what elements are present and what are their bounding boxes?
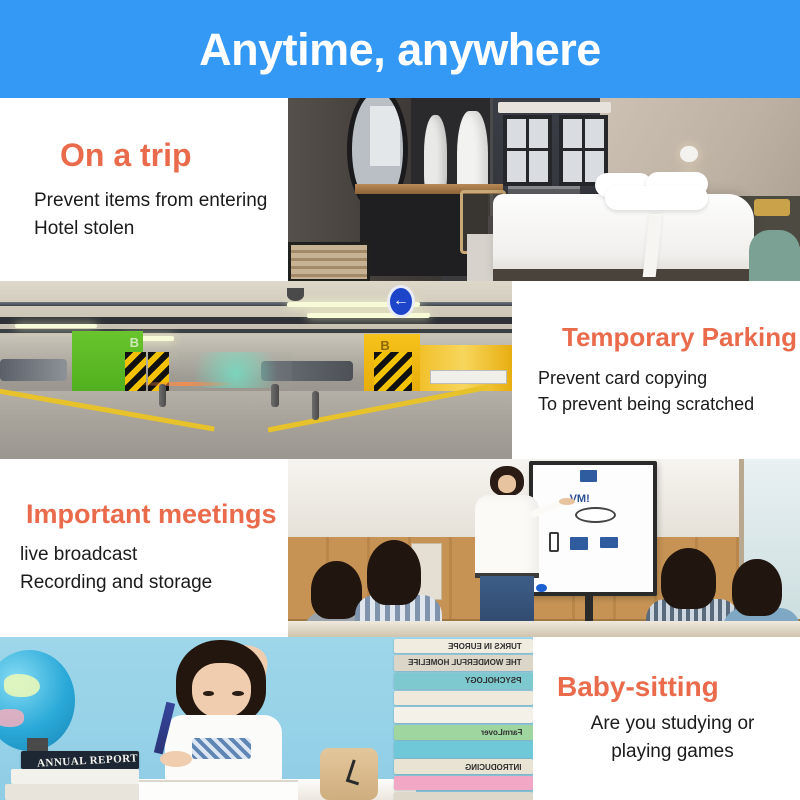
meeting-scene: VM! (288, 459, 800, 637)
security-camera-icon (287, 288, 304, 300)
presenter-body (475, 495, 539, 577)
section-text-on-a-trip: On a trip Prevent items from entering Ho… (0, 98, 288, 282)
wooden-bench (288, 242, 370, 282)
stacked-book (11, 769, 139, 784)
whiteboard-marker-dot (536, 584, 546, 592)
section-line-1: Prevent card copying (538, 365, 800, 391)
parking-scene: ← (0, 281, 512, 459)
stack-book (394, 792, 533, 800)
attendee-head (732, 559, 781, 617)
stack-book (394, 691, 533, 706)
child-eye (203, 691, 215, 696)
meeting-room-photo: VM! (288, 459, 800, 637)
window-shade (498, 102, 611, 113)
child-bowtie (192, 738, 251, 759)
wall-notice-panel (430, 370, 507, 384)
section-heading: Baby-sitting (557, 672, 719, 703)
attendee-head (661, 548, 716, 609)
table-lamp-icon (754, 199, 790, 216)
ceiling-light-icon (15, 324, 97, 329)
ceiling-pipe (0, 302, 512, 306)
section-baby-sitting: ANNUAL REPORT TURKS IN EUROPE THE WONDER… (0, 637, 800, 800)
green-side-table (749, 230, 800, 282)
section-line-2: Hotel stolen (34, 215, 288, 243)
section-line-1: Are you studying or (591, 710, 755, 738)
section-line-1: Prevent items from entering (34, 187, 288, 215)
whiteboard-diagram-phone-icon (549, 532, 559, 552)
stack-book-title: TURKS IN EUROPE (448, 642, 522, 651)
stack-book-title: PSYCHOLOGY (465, 676, 521, 685)
parked-cars (0, 359, 67, 380)
child-eye (232, 691, 244, 696)
whiteboard-diagram-computer-icon (580, 470, 597, 482)
header-banner: Anytime, anywhere (0, 0, 800, 98)
section-line-2: To prevent being scratched (538, 391, 800, 417)
study-scene: ANNUAL REPORT TURKS IN EUROPE THE WONDER… (0, 637, 533, 800)
section-line-2: playing games (611, 738, 734, 766)
light-trail (133, 382, 235, 386)
section-line-2: Recording and storage (20, 569, 288, 597)
child-studying-photo: ANNUAL REPORT TURKS IN EUROPE THE WONDER… (0, 637, 533, 800)
stack-book-title: INTRODUCING (465, 763, 521, 772)
globe-icon (0, 650, 75, 751)
section-temporary-parking: ← Temp (0, 281, 800, 459)
stack-book (394, 707, 533, 723)
page-title: Anytime, anywhere (199, 27, 601, 72)
section-on-a-trip: On a trip Prevent items from entering Ho… (0, 98, 800, 282)
section-heading: On a trip (60, 138, 288, 173)
bollard (159, 384, 166, 407)
section-heading: Temporary Parking (562, 323, 800, 352)
attendee-head (367, 540, 421, 605)
section-text-baby-sitting: Baby-sitting Are you studying or playing… (533, 637, 800, 800)
hotel-room-photo (288, 98, 800, 282)
stack-book (394, 741, 533, 757)
section-line-1: live broadcast (20, 541, 288, 569)
section-heading: Important meetings (26, 500, 288, 530)
stack-book-title: THE WONDERFUL HOMELIFE (408, 658, 522, 667)
bollard (312, 391, 319, 419)
section-text-temporary-parking: Temporary Parking Prevent card copying T… (512, 281, 800, 459)
parking-garage-photo: ← (0, 281, 512, 459)
whiteboard-diagram-computer-icon (570, 537, 588, 549)
presenter-face (498, 475, 516, 493)
section-important-meetings: Important meetings live broadcast Record… (0, 459, 800, 637)
open-notebook (139, 780, 299, 800)
meeting-attendee (355, 512, 442, 637)
hotel-window (503, 115, 552, 187)
section-text-important-meetings: Important meetings live broadcast Record… (0, 459, 288, 637)
wall-sconce-icon (680, 146, 697, 163)
bollard (271, 384, 278, 407)
pillow (605, 186, 707, 210)
stack-book-title: FarmLover (481, 728, 522, 737)
conference-table (288, 621, 800, 637)
stacked-book (5, 784, 138, 800)
hazard-stripe (391, 352, 411, 395)
stack-book (394, 776, 533, 791)
direction-arrow-glyph: ← (393, 293, 409, 309)
ceiling-beam (0, 317, 512, 324)
whiteboard-diagram-laptop-icon (600, 537, 617, 548)
ceiling-light-icon (307, 313, 431, 318)
whiteboard-diagram-cloud-icon (575, 507, 616, 523)
book-stack: TURKS IN EUROPE THE WONDERFUL HOMELIFE P… (394, 637, 533, 800)
hotel-scene (288, 98, 800, 282)
hazard-stripe (125, 352, 145, 395)
infographic-page: Anytime, anywhere On a trip Prevent item… (0, 0, 800, 800)
